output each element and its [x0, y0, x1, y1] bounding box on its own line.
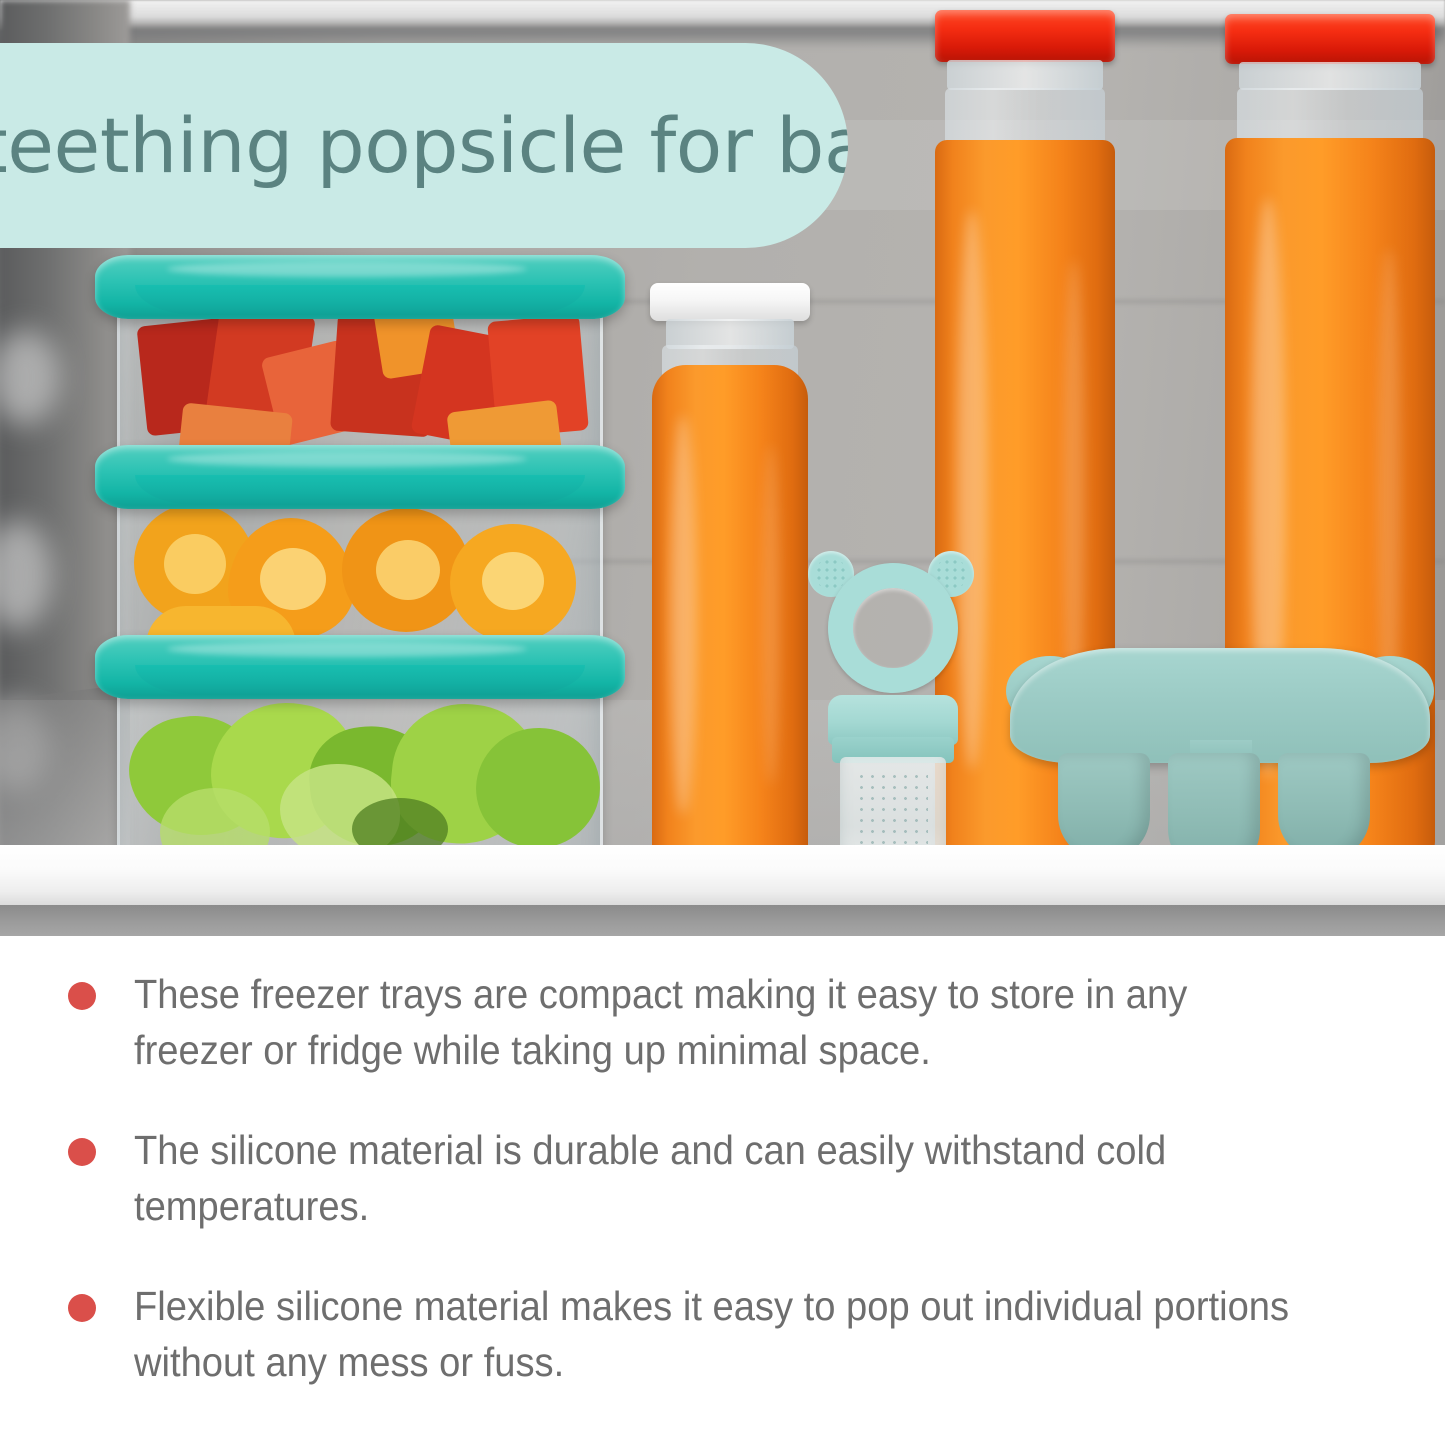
- silicone-lid: [95, 445, 625, 509]
- feature-bullet-item: Flexible silicone material makes it easy…: [0, 1278, 1445, 1390]
- bottle-neck: [1239, 62, 1421, 90]
- feeder-handle-ring: [828, 563, 958, 693]
- feature-bullet-text: The silicone material is durable and can…: [134, 1122, 1311, 1234]
- stacked-glass-containers: [95, 255, 625, 865]
- silicone-lid: [95, 635, 625, 699]
- feature-bullet-panel: These freezer trays are compact making i…: [0, 936, 1445, 1445]
- silicone-lid: [95, 255, 625, 319]
- fridge-shelf-front-lip: [0, 845, 1445, 907]
- small-juice-bottle: [650, 283, 810, 865]
- feature-bullet-text: These freezer trays are compact making i…: [134, 966, 1311, 1078]
- bullet-dot-icon: [68, 982, 96, 1010]
- feature-bullet-text: Flexible silicone material makes it easy…: [134, 1278, 1311, 1390]
- feature-bullet-item: These freezer trays are compact making i…: [0, 966, 1445, 1078]
- bottle-cap-red: [935, 10, 1115, 62]
- silicone-baby-food-feeder: [810, 545, 975, 865]
- headline-text: teething popsicle for baby: [0, 108, 848, 184]
- fridge-shelf-underside: [0, 905, 1445, 936]
- juice-highlight: [762, 445, 780, 785]
- bottle-cap-red: [1225, 14, 1435, 64]
- product-photo: teething popsicle for baby: [0, 0, 1445, 936]
- bullet-dot-icon: [68, 1138, 96, 1166]
- bottle-cap-white: [650, 283, 810, 321]
- product-feature-page: teething popsicle for baby These freezer…: [0, 0, 1445, 1445]
- bottle-body: [652, 365, 808, 865]
- bottle-neck: [947, 60, 1103, 90]
- headline-banner: teething popsicle for baby: [0, 43, 848, 248]
- bullet-dot-icon: [68, 1294, 96, 1322]
- juice-highlight: [670, 415, 696, 815]
- feature-bullet-item: The silicone material is durable and can…: [0, 1122, 1445, 1234]
- bear-silicone-freezer-tray: [1010, 648, 1430, 868]
